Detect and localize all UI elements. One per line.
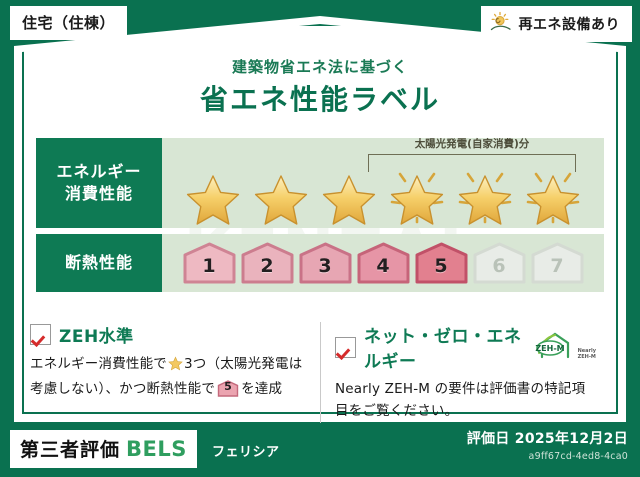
performance-rows: エネルギー 消費性能 太陽光発電(自家消費)分 [36,138,604,298]
insulation-level-value: 3 [318,255,331,284]
insulation-level-scale: 1 2 3 4 5 6 7 [182,242,585,284]
energy-label-line1: エネルギー [56,161,141,183]
inline-house-value: 5 [217,378,239,396]
insulation-level-value: 1 [202,255,215,284]
energy-star-panel: 太陽光発電(自家消費)分 [162,138,604,228]
zeh-m-logo: ZEH-M Nearly ZEH-M [534,331,596,363]
inline-house-badge: 5 [217,380,239,397]
star-filled [180,162,246,226]
zeh-standard-body: エネルギー消費性能で3つ（太陽光発電は考慮しない）、かつ断熱性能で5を達成 [30,354,306,401]
star-filled [248,162,314,226]
zeh-m-logo-sub: Nearly ZEH-M [578,348,596,364]
insulation-level-on: 3 [298,242,353,284]
bels-en-label: BELS [126,437,187,461]
insulation-level-panel: 1 2 3 4 5 6 7 [162,234,604,292]
star-filled [316,162,382,226]
net-zero-energy-block: ネット・ゼロ・エネルギー ZEH-M Nearly ZEH-M [320,322,610,423]
label-footer: 第三者評価 BELS フェリシア 評価日 2025年12月2日 a9ff67cd… [0,422,640,477]
zeh-body-part1: エネルギー消費性能で [30,356,167,372]
bels-badge: 第三者評価 BELS [10,430,197,468]
zeh-m-house-icon: ZEH-M [534,331,576,363]
check-icon [30,324,51,345]
solar-sun-icon [489,11,513,37]
svg-text:ZEH-M: ZEH-M [535,344,564,353]
insulation-level-value: 7 [550,255,563,284]
renewable-equipment-label: 再エネ設備あり [519,14,621,34]
zeh-standard-block: ZEH水準 エネルギー消費性能で3つ（太陽光発電は考慮しない）、かつ断熱性能で5… [30,322,320,423]
energy-performance-row: エネルギー 消費性能 太陽光発電(自家消費)分 [36,138,604,228]
solar-bracket-label: 太陽光発電(自家消費)分 [362,136,582,151]
inline-star-icon [168,356,183,379]
bels-jp-label: 第三者評価 [20,435,120,462]
net-zero-energy-body: Nearly ZEH-M の要件は評価書の特記項目をご覧ください。 [335,379,596,423]
zeh-body-part3: を達成 [241,381,282,397]
criteria-section: ZEH水準 エネルギー消費性能で3つ（太陽光発電は考慮しない）、かつ断熱性能で5… [30,322,610,423]
insulation-level-on: 2 [240,242,295,284]
insulation-level-on: 5 [414,242,469,284]
evaluation-id: a9ff67cd-4ed8-4ca0 [467,451,628,462]
renewable-equipment-tag: 再エネ設備あり [481,6,633,42]
zeh-m-sub-line2: ZEH-M [578,354,596,360]
net-zero-energy-header: ネット・ゼロ・エネルギー ZEH-M Nearly ZEH-M [335,322,596,372]
star-solar [384,162,450,226]
check-icon [335,337,356,358]
net-zero-energy-title: ネット・ゼロ・エネルギー [364,322,522,372]
dwelling-type-tag: 住宅（住棟） [10,6,127,40]
insulation-level-value: 6 [492,255,505,284]
label-title: 省エネ性能ラベル [0,78,640,118]
evaluation-date: 評価日 2025年12月2日 [467,428,628,448]
evaluation-info: 評価日 2025年12月2日 a9ff67cd-4ed8-4ca0 [467,428,628,462]
energy-performance-label: エネルギー 消費性能 [36,138,162,228]
label-subtitle: 建築物省エネ法に基づく [0,56,640,77]
insulation-level-off: 7 [530,242,585,284]
company-name: フェリシア [212,441,280,460]
insulation-level-off: 6 [472,242,527,284]
zeh-standard-title: ZEH水準 [59,322,134,347]
zeh-standard-header: ZEH水準 [30,322,306,347]
insulation-level-on: 1 [182,242,237,284]
insulation-performance-label: 断熱性能 [36,234,162,292]
insulation-level-value: 2 [260,255,273,284]
energy-label-line2: 消費性能 [65,183,133,205]
insulation-performance-row: 断熱性能 1 2 3 4 5 6 7 [36,234,604,292]
zeh-body-stars: 3つ [184,356,207,372]
insulation-level-value: 5 [434,255,447,284]
energy-performance-label: KENZAI 住宅（住棟） 再エネ設備あり 建築物省エネ法に基づく 省エネ性能ラ… [0,0,640,477]
star-solar [520,162,586,226]
star-solar [452,162,518,226]
zeh-m-sub-line1: Nearly [578,348,596,354]
insulation-level-value: 4 [376,255,389,284]
insulation-level-on: 4 [356,242,411,284]
